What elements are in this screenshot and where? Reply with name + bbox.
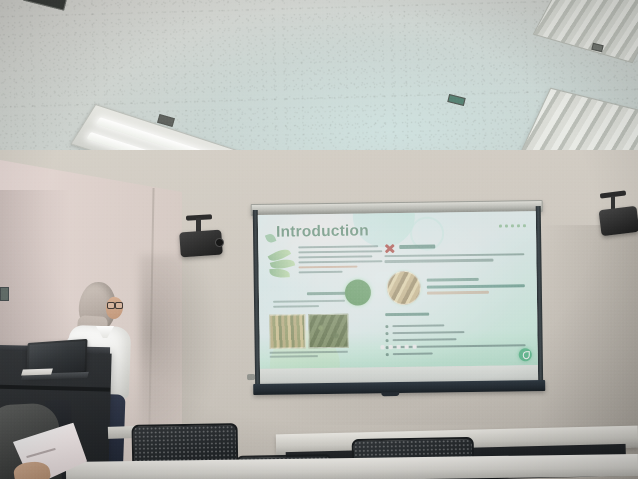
slide-photo-green-plant (308, 314, 348, 349)
wall-plaque (0, 287, 9, 301)
slide-subcaption (273, 300, 345, 310)
slide-intro-paragraph (298, 245, 382, 276)
slide-decor-dots-top-right (499, 224, 526, 227)
green-circle-accent (345, 279, 371, 305)
slide-decor-dots-bottom (381, 345, 417, 350)
projector-mount-arm (196, 218, 201, 232)
presentation-slide: Introduction (258, 211, 538, 369)
slide-title: Introduction (276, 222, 369, 241)
slide-benefits-list (385, 321, 527, 358)
slide-photo-herb-stalks (269, 314, 305, 348)
screen-surface: Introduction (258, 211, 538, 369)
screen-side-knob (247, 374, 255, 380)
projection-screen: Introduction (251, 200, 546, 400)
eyeglasses-icon (107, 302, 123, 308)
slide-alternative-label (427, 278, 479, 282)
leaf-illustration-icon (266, 246, 296, 280)
lecture-room-photograph: Introduction (0, 0, 638, 479)
red-cross-mark-icon (384, 243, 395, 254)
slide-alternative-text-line-2 (427, 291, 489, 294)
slide-antibiotic-body-text (384, 253, 524, 265)
speaker-mount-arm (611, 196, 615, 209)
paper-on-podium (21, 368, 53, 375)
wall-speaker-icon (599, 206, 638, 236)
slide-alternative-text-line-1 (427, 284, 525, 288)
list-item (386, 349, 528, 357)
slide-photo-dried-herb-circle (387, 271, 421, 305)
slide-heading-antibiotic (399, 244, 435, 249)
app-logo-badge-icon (519, 348, 532, 361)
slide-benefits-heading (385, 313, 429, 317)
slide-title-leaf-icon (265, 232, 277, 244)
